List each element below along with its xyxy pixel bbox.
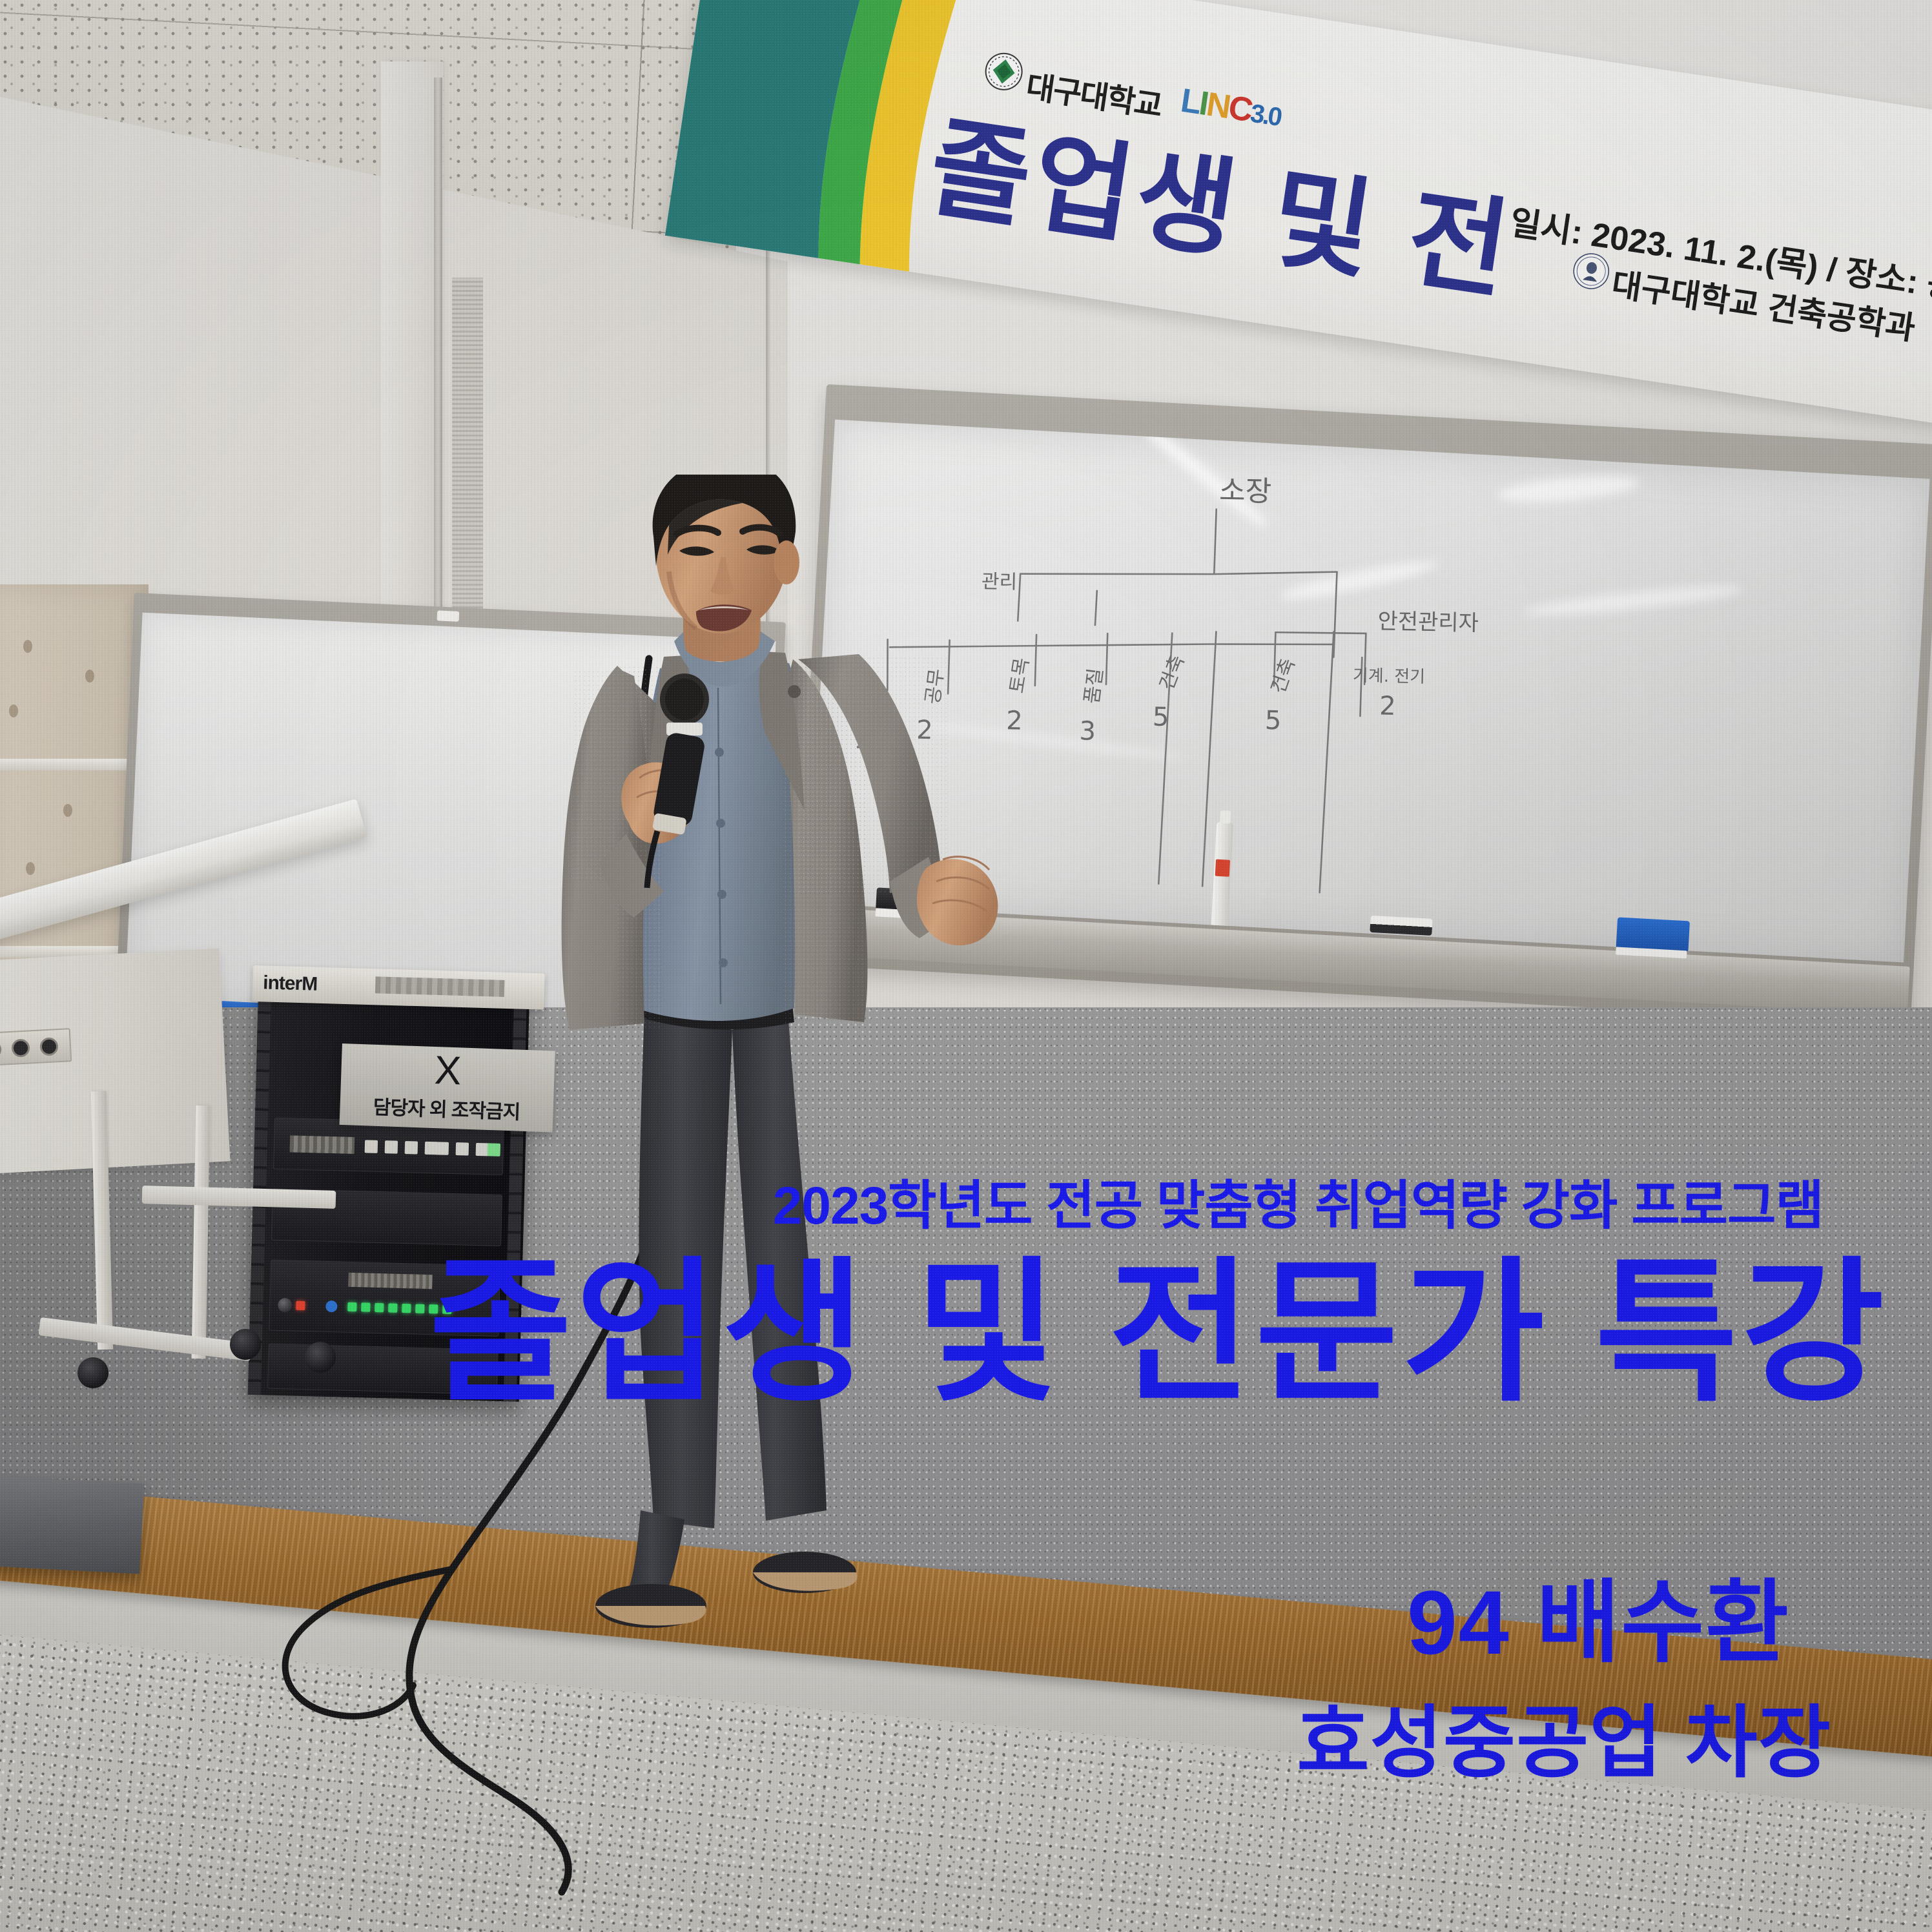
title-overlay-group: 2023학년도 전공 맞춤형 취업역량 강화 프로그램 졸업생 및 전문가 특강… <box>0 0 1932 1932</box>
lecture-room-photo: 대구대학교 LINC3.0 졸업생 및 전 일시: 2023. 11. 2.(목… <box>0 0 1932 1932</box>
overlay-speaker-name: 94 배수환 <box>0 1550 1790 1680</box>
overlay-main-title: 졸업생 및 전문가 특강 <box>0 1246 1888 1420</box>
overlay-speaker-affiliation: 효성중공업 차장 <box>0 1679 1831 1793</box>
overlay-subtitle: 2023학년도 전공 맞춤형 취업역량 강화 프로그램 <box>0 1162 1824 1239</box>
